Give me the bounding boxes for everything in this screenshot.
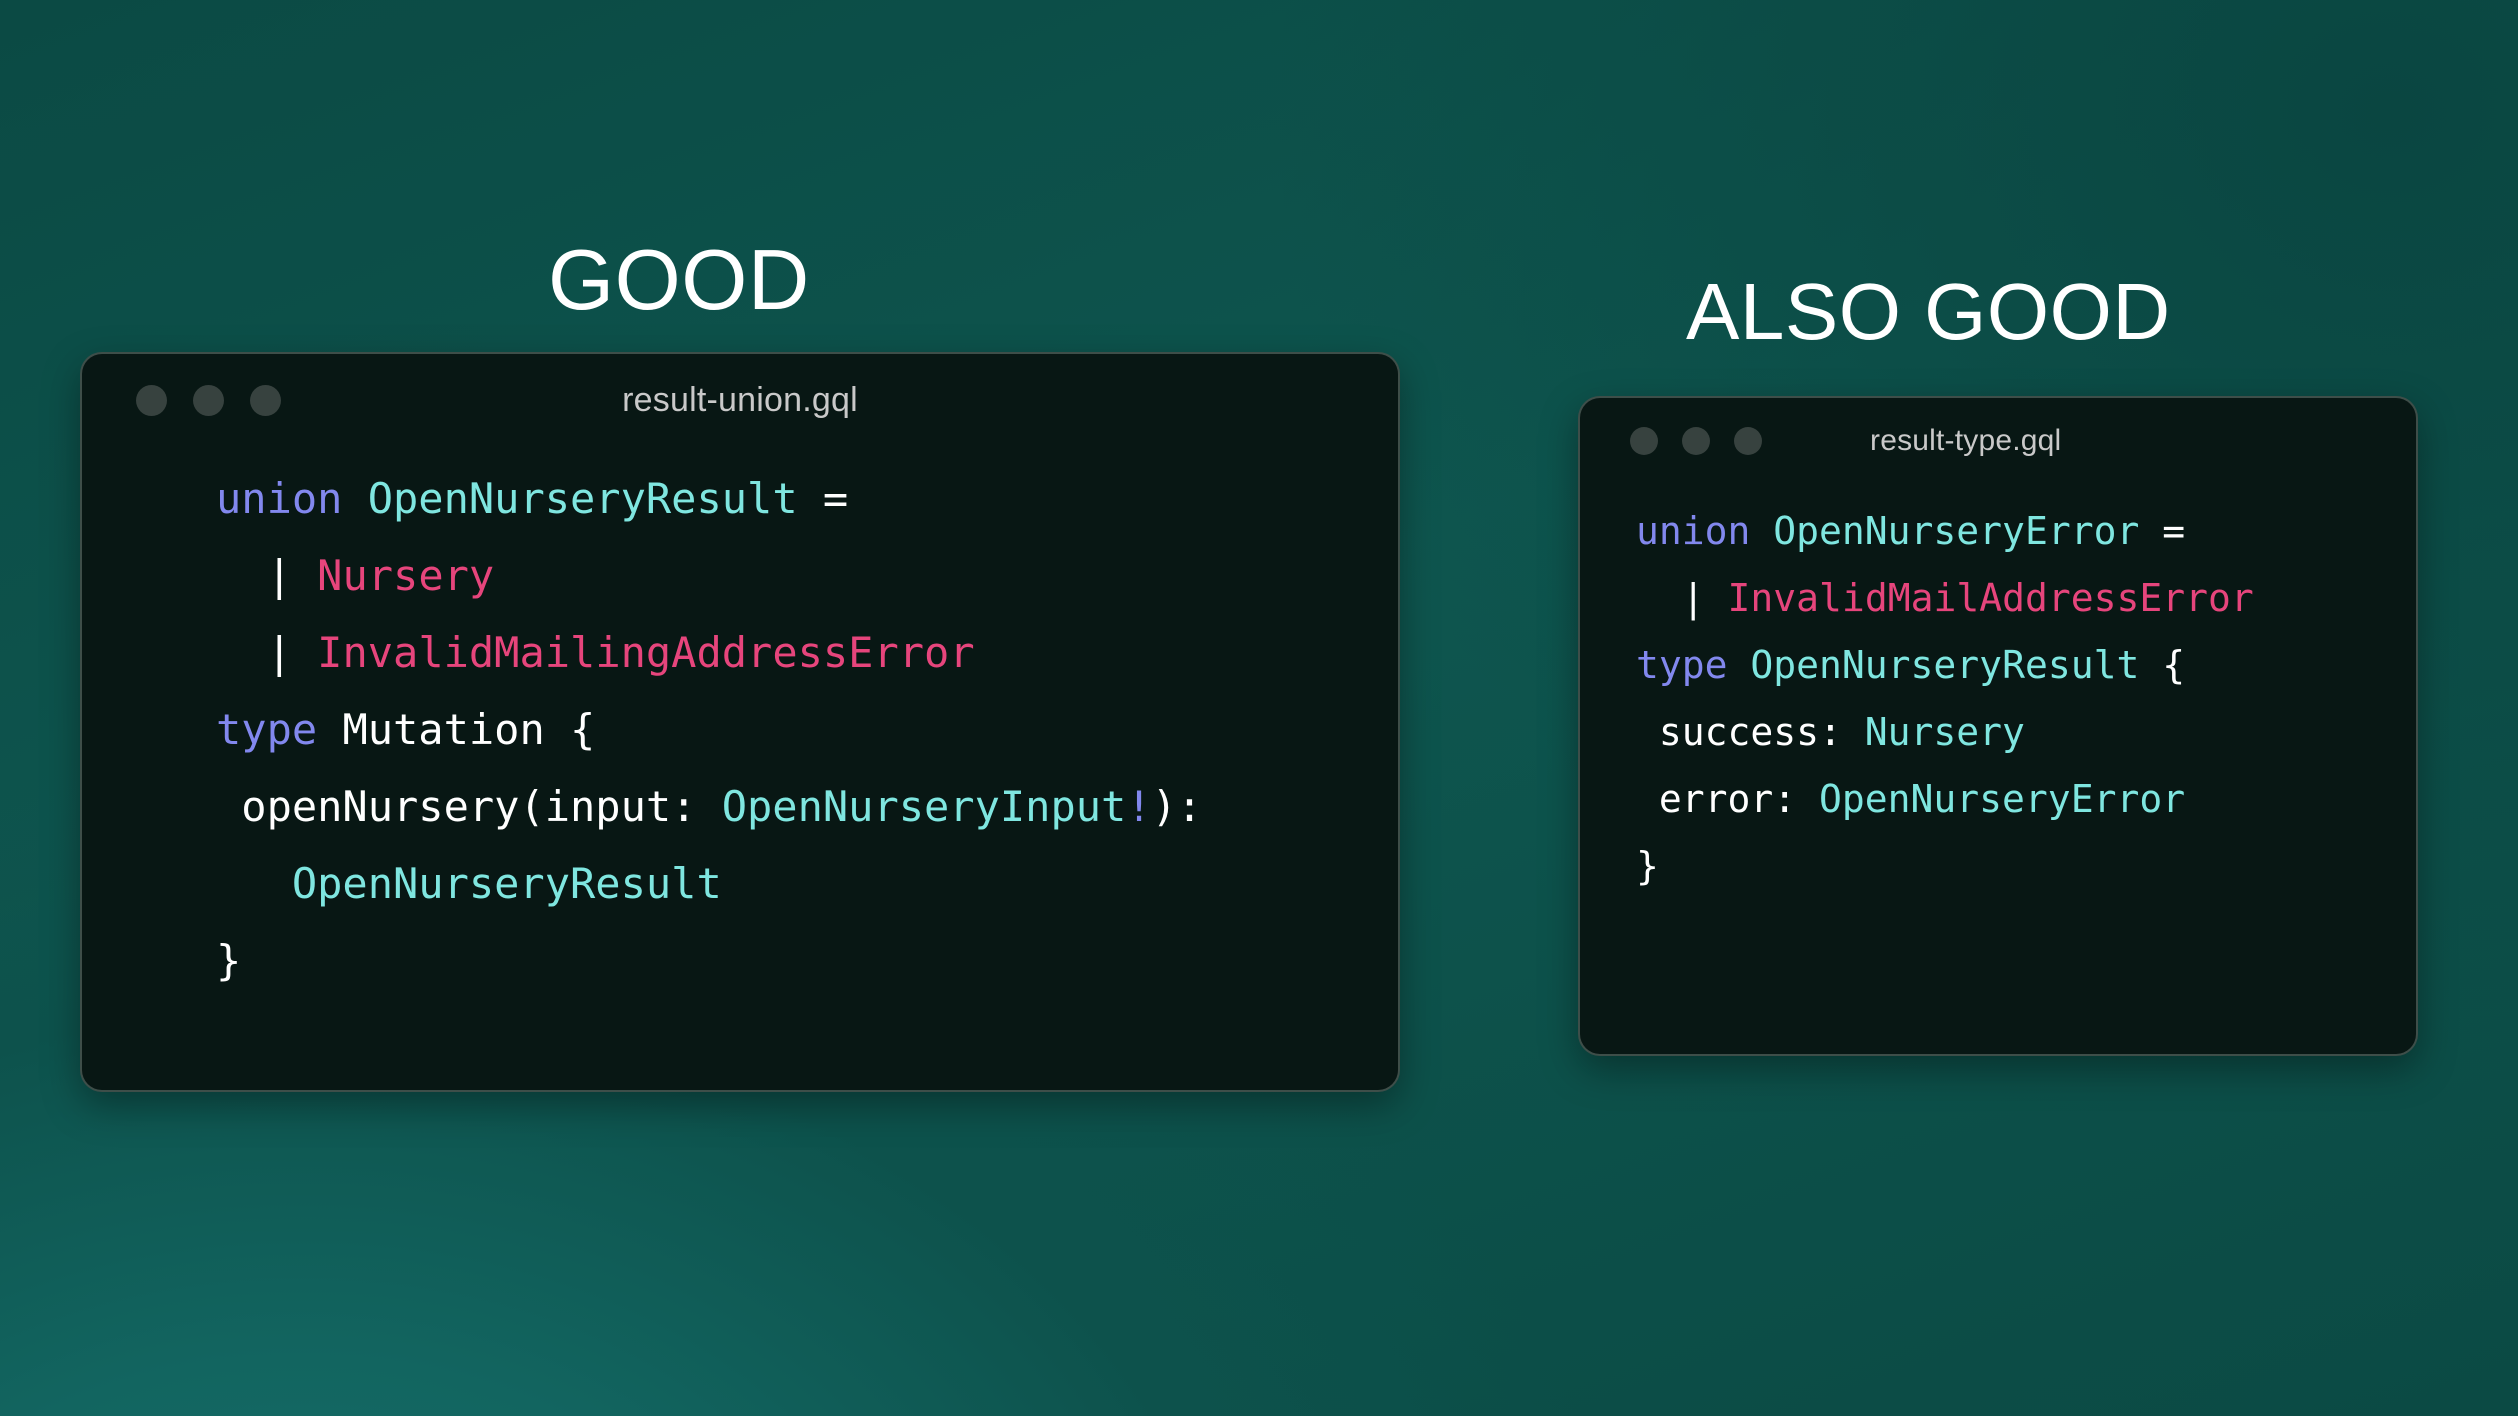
code-token: Nursery [317,551,494,600]
heading-good: GOOD [548,238,810,323]
code-line: | InvalidMailAddressError [1636,565,2416,632]
code-line: type Mutation { [216,691,1398,768]
code-token: ! [1126,782,1151,831]
code-line: type OpenNurseryResult { [1636,632,2416,699]
code-token: | [1682,576,1705,620]
code-token: type [216,705,317,754]
code-token: ): [1152,782,1203,831]
code-token [1728,643,1751,687]
code-token: union [1636,509,1750,553]
minimize-dot-icon[interactable] [1682,427,1710,455]
code-token: OpenNurseryError [1819,777,2185,821]
window-titlebar: result-type.gql [1580,398,2416,484]
code-token [216,859,292,908]
code-line: | Nursery [216,537,1398,614]
code-token: } [1636,844,1659,888]
heading-also-good: ALSO GOOD [1686,272,2171,352]
window-titlebar: result-union.gql [82,354,1398,446]
code-token [1750,509,1773,553]
code-token: union [216,474,342,523]
window-filename: result-type.gql [1870,424,2416,458]
code-token: InvalidMailAddressError [1728,576,2254,620]
code-line: } [216,922,1398,999]
code-token [292,628,317,677]
code-token: error: [1636,777,1819,821]
code-line: openNursery(input: OpenNurseryInput!): [216,768,1398,845]
code-window-also-good: result-type.gql union OpenNurseryError =… [1578,396,2418,1056]
code-token [216,628,267,677]
code-line: error: OpenNurseryError [1636,766,2416,833]
minimize-dot-icon[interactable] [193,385,224,416]
code-token [292,551,317,600]
window-controls [1630,427,1762,455]
code-token: OpenNurseryResult [292,859,722,908]
code-token: } [216,936,241,985]
code-line: union OpenNurseryError = [1636,498,2416,565]
code-token: success: [1636,710,1865,754]
code-token: = [2162,509,2185,553]
code-token: Mutation { [317,705,595,754]
code-token: Nursery [1865,710,2025,754]
code-token [2139,509,2162,553]
code-token: InvalidMailingAddressError [317,628,974,677]
code-token: | [267,628,292,677]
code-token [798,474,823,523]
code-token [1705,576,1728,620]
close-dot-icon[interactable] [1630,427,1658,455]
code-token [1636,576,1682,620]
close-dot-icon[interactable] [136,385,167,416]
code-block-good: union OpenNurseryResult = | Nursery | In… [216,446,1398,999]
code-token: | [267,551,292,600]
code-token: OpenNurseryInput [722,782,1127,831]
code-token [342,474,367,523]
code-block-also-good: union OpenNurseryError = | InvalidMailAd… [1636,484,2416,900]
maximize-dot-icon[interactable] [1734,427,1762,455]
window-controls [136,385,281,416]
maximize-dot-icon[interactable] [250,385,281,416]
code-token: = [823,474,848,523]
code-token [216,551,267,600]
code-line: OpenNurseryResult [216,845,1398,922]
code-token: OpenNurseryResult [1750,643,2139,687]
code-line: } [1636,833,2416,900]
slide-canvas: GOOD ALSO GOOD result-union.gql union Op… [0,0,2518,1416]
code-token: openNursery(input: [216,782,722,831]
code-token: { [2139,643,2185,687]
code-token: OpenNurseryResult [368,474,798,523]
code-window-good: result-union.gql union OpenNurseryResult… [80,352,1400,1092]
code-line: union OpenNurseryResult = [216,460,1398,537]
code-line: | InvalidMailingAddressError [216,614,1398,691]
code-token: type [1636,643,1728,687]
code-line: success: Nursery [1636,699,2416,766]
code-token: OpenNurseryError [1773,509,2139,553]
